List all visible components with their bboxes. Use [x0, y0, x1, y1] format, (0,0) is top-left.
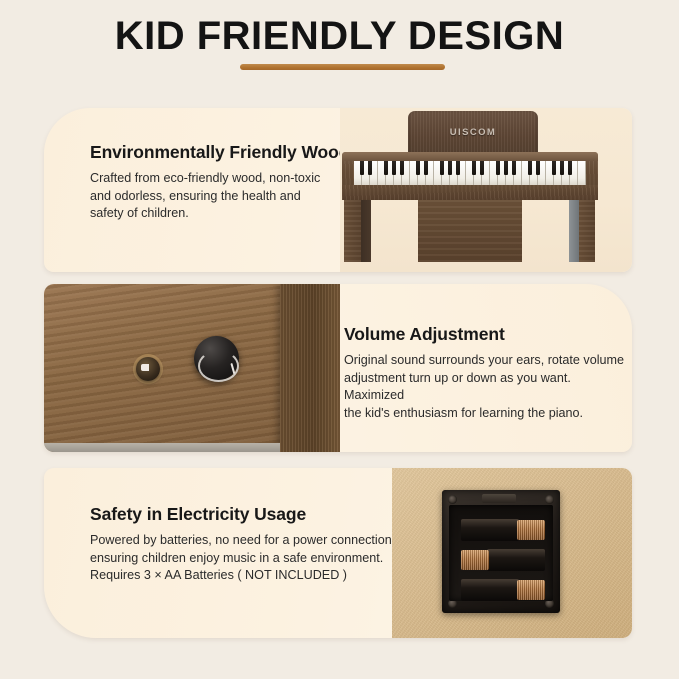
screw-icon — [545, 495, 554, 504]
aa-battery — [461, 579, 545, 601]
feature-body: Original sound surrounds your ears, rota… — [344, 352, 632, 422]
feature-body-line: safety of children. — [90, 205, 362, 223]
feature-heading: Volume Adjustment — [344, 324, 632, 345]
piano-back-panel: UISCOM — [408, 111, 538, 158]
piano-black-key — [440, 161, 444, 175]
volume-knob-photo — [44, 284, 340, 452]
feature-body: Powered by batteries, no need for a powe… — [90, 532, 410, 585]
volume-knob — [194, 336, 239, 381]
wood-post — [280, 284, 340, 452]
piano-black-key — [568, 161, 572, 175]
feature-text-electricity-safety: Safety in Electricity Usage Powered by b… — [90, 504, 410, 585]
piano-front-panel — [342, 185, 598, 200]
piano-black-key — [496, 161, 500, 175]
page-header: KID FRIENDLY DESIGN — [0, 0, 679, 100]
feature-body-line: the kid's enthusiasm for learning the pi… — [344, 405, 632, 423]
piano-black-key — [536, 161, 540, 175]
aa-battery — [461, 519, 545, 541]
battery-compartment-photo — [392, 468, 632, 638]
brand-logo: UISCOM — [408, 127, 538, 138]
feature-text-eco-wood: Environmentally Friendly Wood Crafted fr… — [90, 142, 362, 223]
screw-icon — [448, 495, 457, 504]
title-accent-bar — [240, 64, 445, 70]
piano-black-key — [424, 161, 428, 175]
piano-leg-inner-left — [361, 200, 371, 262]
piano-black-key — [360, 161, 364, 175]
piano-black-key — [528, 161, 532, 175]
battery-bay — [449, 505, 553, 601]
piano-black-key — [400, 161, 404, 175]
piano-black-key — [504, 161, 508, 175]
battery-terminal — [461, 550, 489, 570]
feature-body-line: Crafted from eco-friendly wood, non-toxi… — [90, 170, 362, 188]
piano-black-key — [560, 161, 564, 175]
piano-black-key — [480, 161, 484, 175]
piano-leg-right — [578, 200, 595, 262]
battery-terminal — [517, 580, 545, 600]
piano-lid — [342, 152, 598, 161]
battery-body — [487, 549, 545, 571]
piano-leg-left — [344, 200, 361, 262]
piano-black-key — [368, 161, 372, 175]
battery-terminal — [517, 520, 545, 540]
feature-body-line: ensuring children enjoy music in a safe … — [90, 550, 410, 568]
battery-body — [461, 519, 519, 541]
feature-body-line: and odorless, ensuring the health and — [90, 188, 362, 206]
feature-heading: Environmentally Friendly Wood — [90, 142, 362, 163]
piano-black-key — [416, 161, 420, 175]
piano-black-keys — [354, 161, 586, 175]
piano-black-key — [448, 161, 452, 175]
feature-body: Crafted from eco-friendly wood, non-toxi… — [90, 170, 362, 223]
feature-body-line: adjustment turn up or down as you want. … — [344, 370, 632, 405]
feature-body-line: Original sound surrounds your ears, rota… — [344, 352, 632, 370]
piano-black-key — [512, 161, 516, 175]
feature-panel-volume-adjustment: Volume Adjustment Original sound surroun… — [44, 284, 632, 452]
feature-text-volume-adjustment: Volume Adjustment Original sound surroun… — [344, 324, 632, 422]
battery-body — [461, 579, 519, 601]
piano-leg-inner-right — [569, 200, 579, 262]
feature-panel-electricity-safety: Safety in Electricity Usage Powered by b… — [44, 468, 632, 638]
page-title: KID FRIENDLY DESIGN — [0, 14, 679, 59]
panel-edge-strip — [44, 443, 280, 452]
feature-body-line: Requires 3 × AA Batteries ( NOT INCLUDED… — [90, 567, 410, 585]
battery-latch-tab — [482, 494, 516, 503]
piano-black-key — [392, 161, 396, 175]
feature-body-line: Powered by batteries, no need for a powe… — [90, 532, 410, 550]
piano-back-slab — [418, 200, 522, 262]
piano-black-key — [456, 161, 460, 175]
toy-piano-photo: UISCOM — [340, 108, 632, 272]
piano-black-key — [552, 161, 556, 175]
battery-plate — [442, 490, 560, 613]
knob-pointer — [230, 363, 235, 375]
piano-black-key — [384, 161, 388, 175]
feature-panel-eco-wood: Environmentally Friendly Wood Crafted fr… — [44, 108, 632, 272]
feature-heading: Safety in Electricity Usage — [90, 504, 410, 525]
secondary-knob — [136, 357, 160, 381]
aa-battery — [461, 549, 545, 571]
piano-black-key — [472, 161, 476, 175]
